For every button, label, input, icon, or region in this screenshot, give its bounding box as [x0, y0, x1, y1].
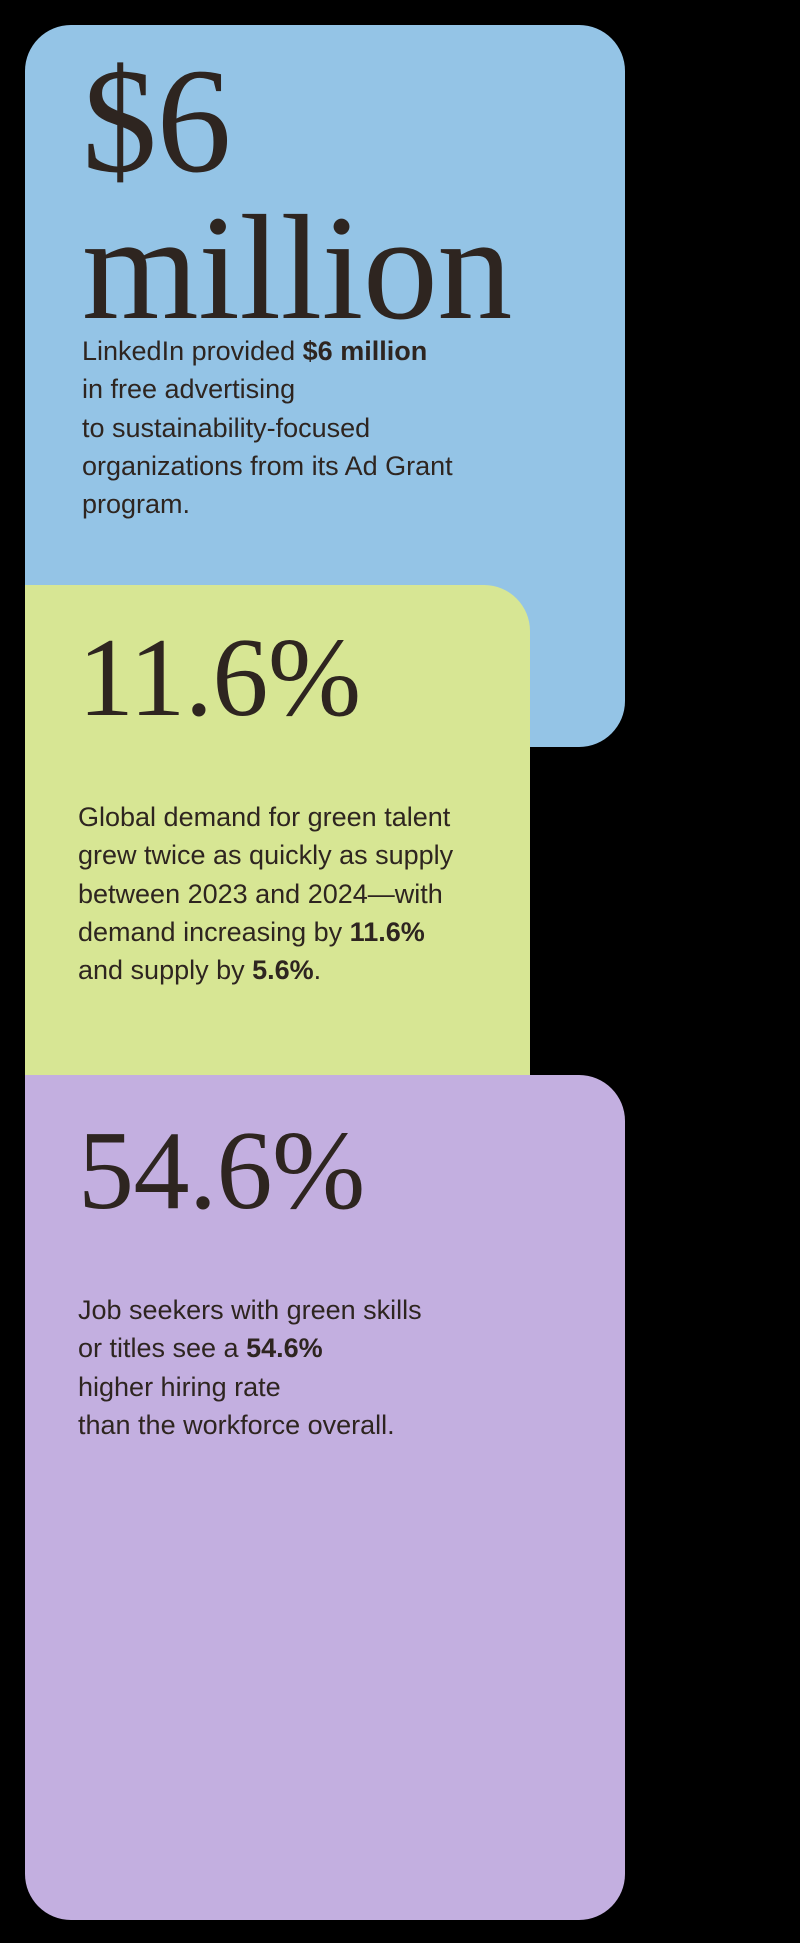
stat-headline-ad-grant: $6 million: [82, 48, 512, 342]
body-text-run: LinkedIn provided: [82, 336, 303, 366]
stat-headline-green-talent-demand: 11.6%: [78, 624, 361, 734]
stat-headline-hiring-rate: 54.6%: [78, 1117, 365, 1227]
stat-body-hiring-rate: Job seekers with green skills or titles …: [78, 1291, 538, 1444]
infographic-root: $6 million LinkedIn provided $6 million …: [0, 0, 800, 1943]
body-text-emphasis: 11.6%: [350, 917, 425, 947]
body-text-run: and supply by: [78, 955, 252, 985]
body-text-emphasis: 5.6%: [252, 955, 314, 985]
stat-body-ad-grant: LinkedIn provided $6 million in free adv…: [82, 332, 552, 524]
body-text-emphasis: 54.6%: [246, 1333, 323, 1363]
body-text-run: in free advertising to sustainability-fo…: [82, 374, 453, 519]
stat-body-green-talent-demand: Global demand for green talent grew twic…: [78, 798, 528, 990]
body-text-run: .: [314, 955, 322, 985]
body-text-run: higher hiring rate than the workforce ov…: [78, 1372, 395, 1440]
body-text-emphasis: $6 million: [303, 336, 428, 366]
